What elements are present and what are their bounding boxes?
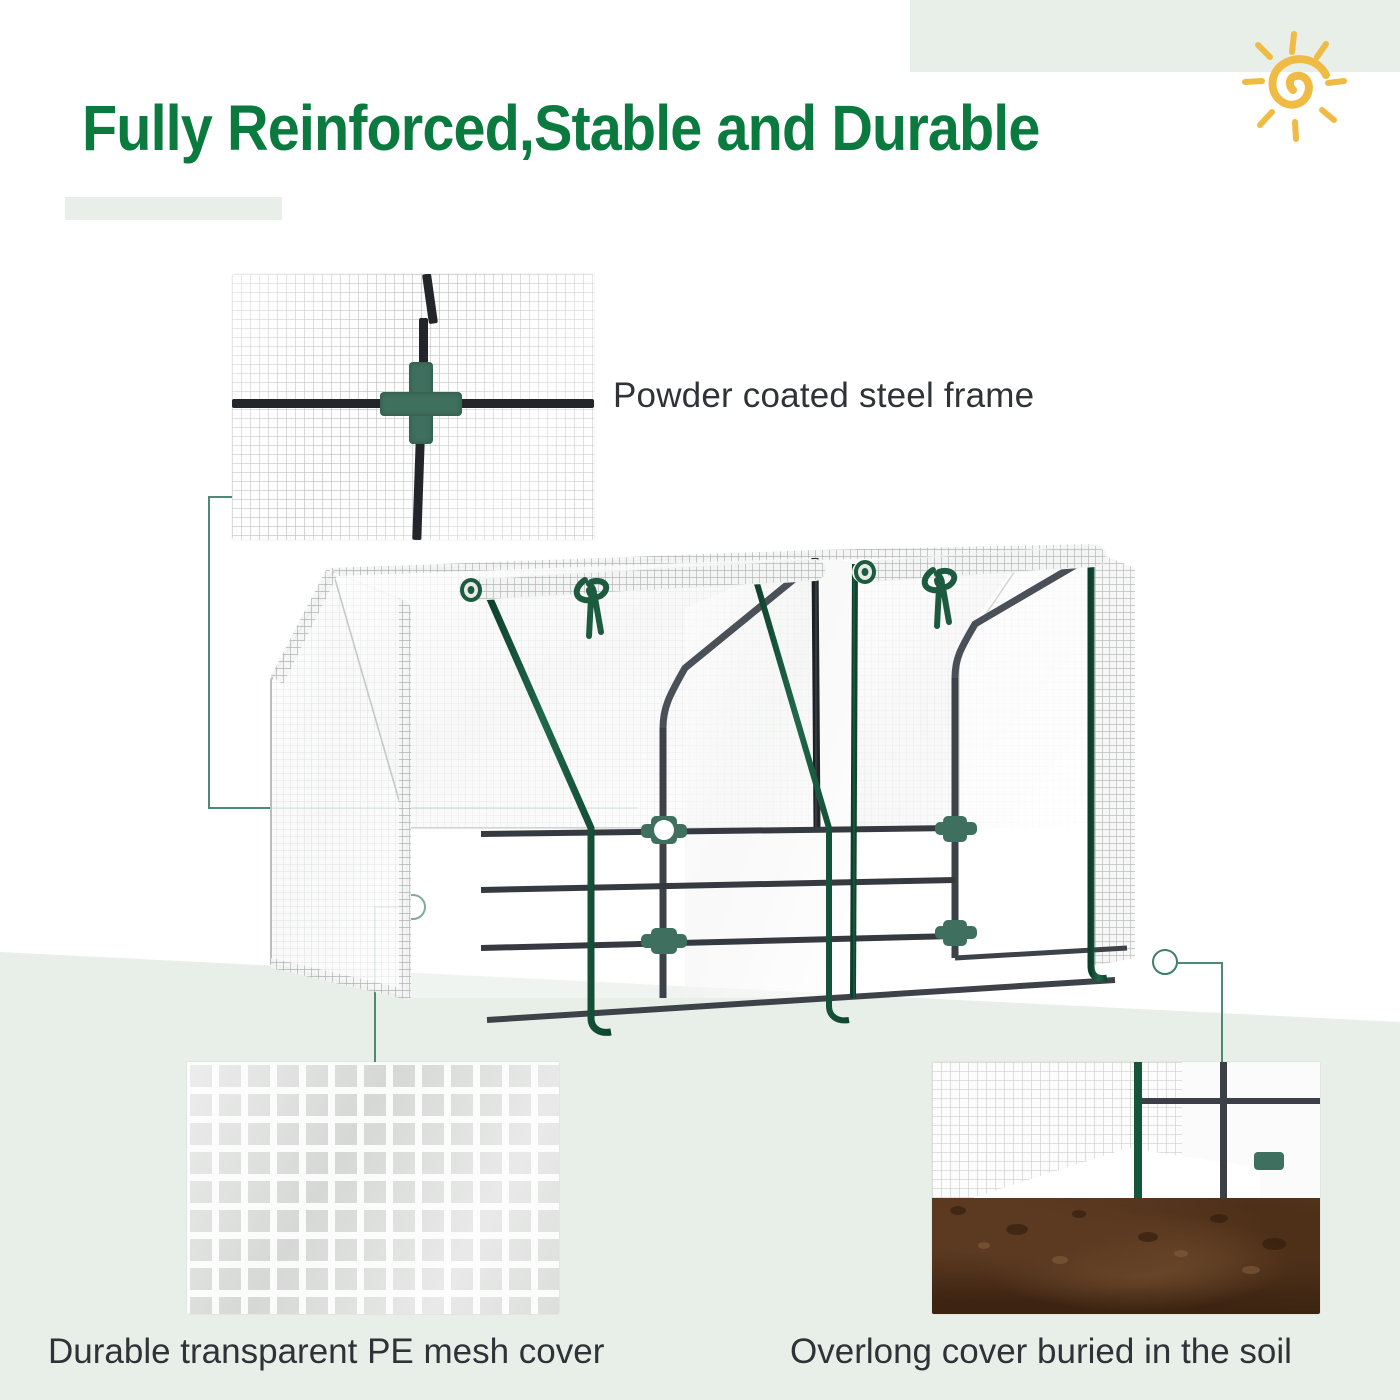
callout-dot-buried-cover[interactable] (1152, 949, 1178, 975)
mesh-sheen-overlay (187, 1062, 559, 1314)
steel-rail-upper (1140, 1098, 1320, 1104)
sun-spiral-icon (1218, 12, 1368, 162)
greenhouse-product-illustration (255, 528, 1155, 1068)
leader-line-steel-frame-vertical (208, 496, 210, 808)
photo-pe-mesh-closeup (187, 1062, 559, 1314)
leader-line-soil-vertical (1221, 962, 1223, 1066)
callout-label-steel-frame: Powder coated steel frame (613, 376, 1034, 416)
photo-steel-frame-connector (232, 274, 594, 540)
leader-line-soil-horizontal (1178, 962, 1222, 964)
greenhouse-right-edge-mesh (1091, 550, 1135, 966)
caption-buried-cover: Overlong cover buried in the soil (790, 1332, 1292, 1372)
photo-cover-buried-soil (932, 1062, 1320, 1314)
cross-connector-horizontal-arm (380, 392, 462, 416)
infographic-canvas: Fully Reinforced,Stable and Durable (0, 0, 1400, 1400)
caption-pe-mesh-cover: Durable transparent PE mesh cover (48, 1332, 604, 1372)
frame-connector (1254, 1152, 1284, 1170)
soil-bed (932, 1198, 1320, 1314)
page-title: Fully Reinforced,Stable and Durable (82, 96, 1039, 160)
title-underline-bar (65, 197, 282, 220)
connector-highlight-ring (654, 820, 674, 840)
